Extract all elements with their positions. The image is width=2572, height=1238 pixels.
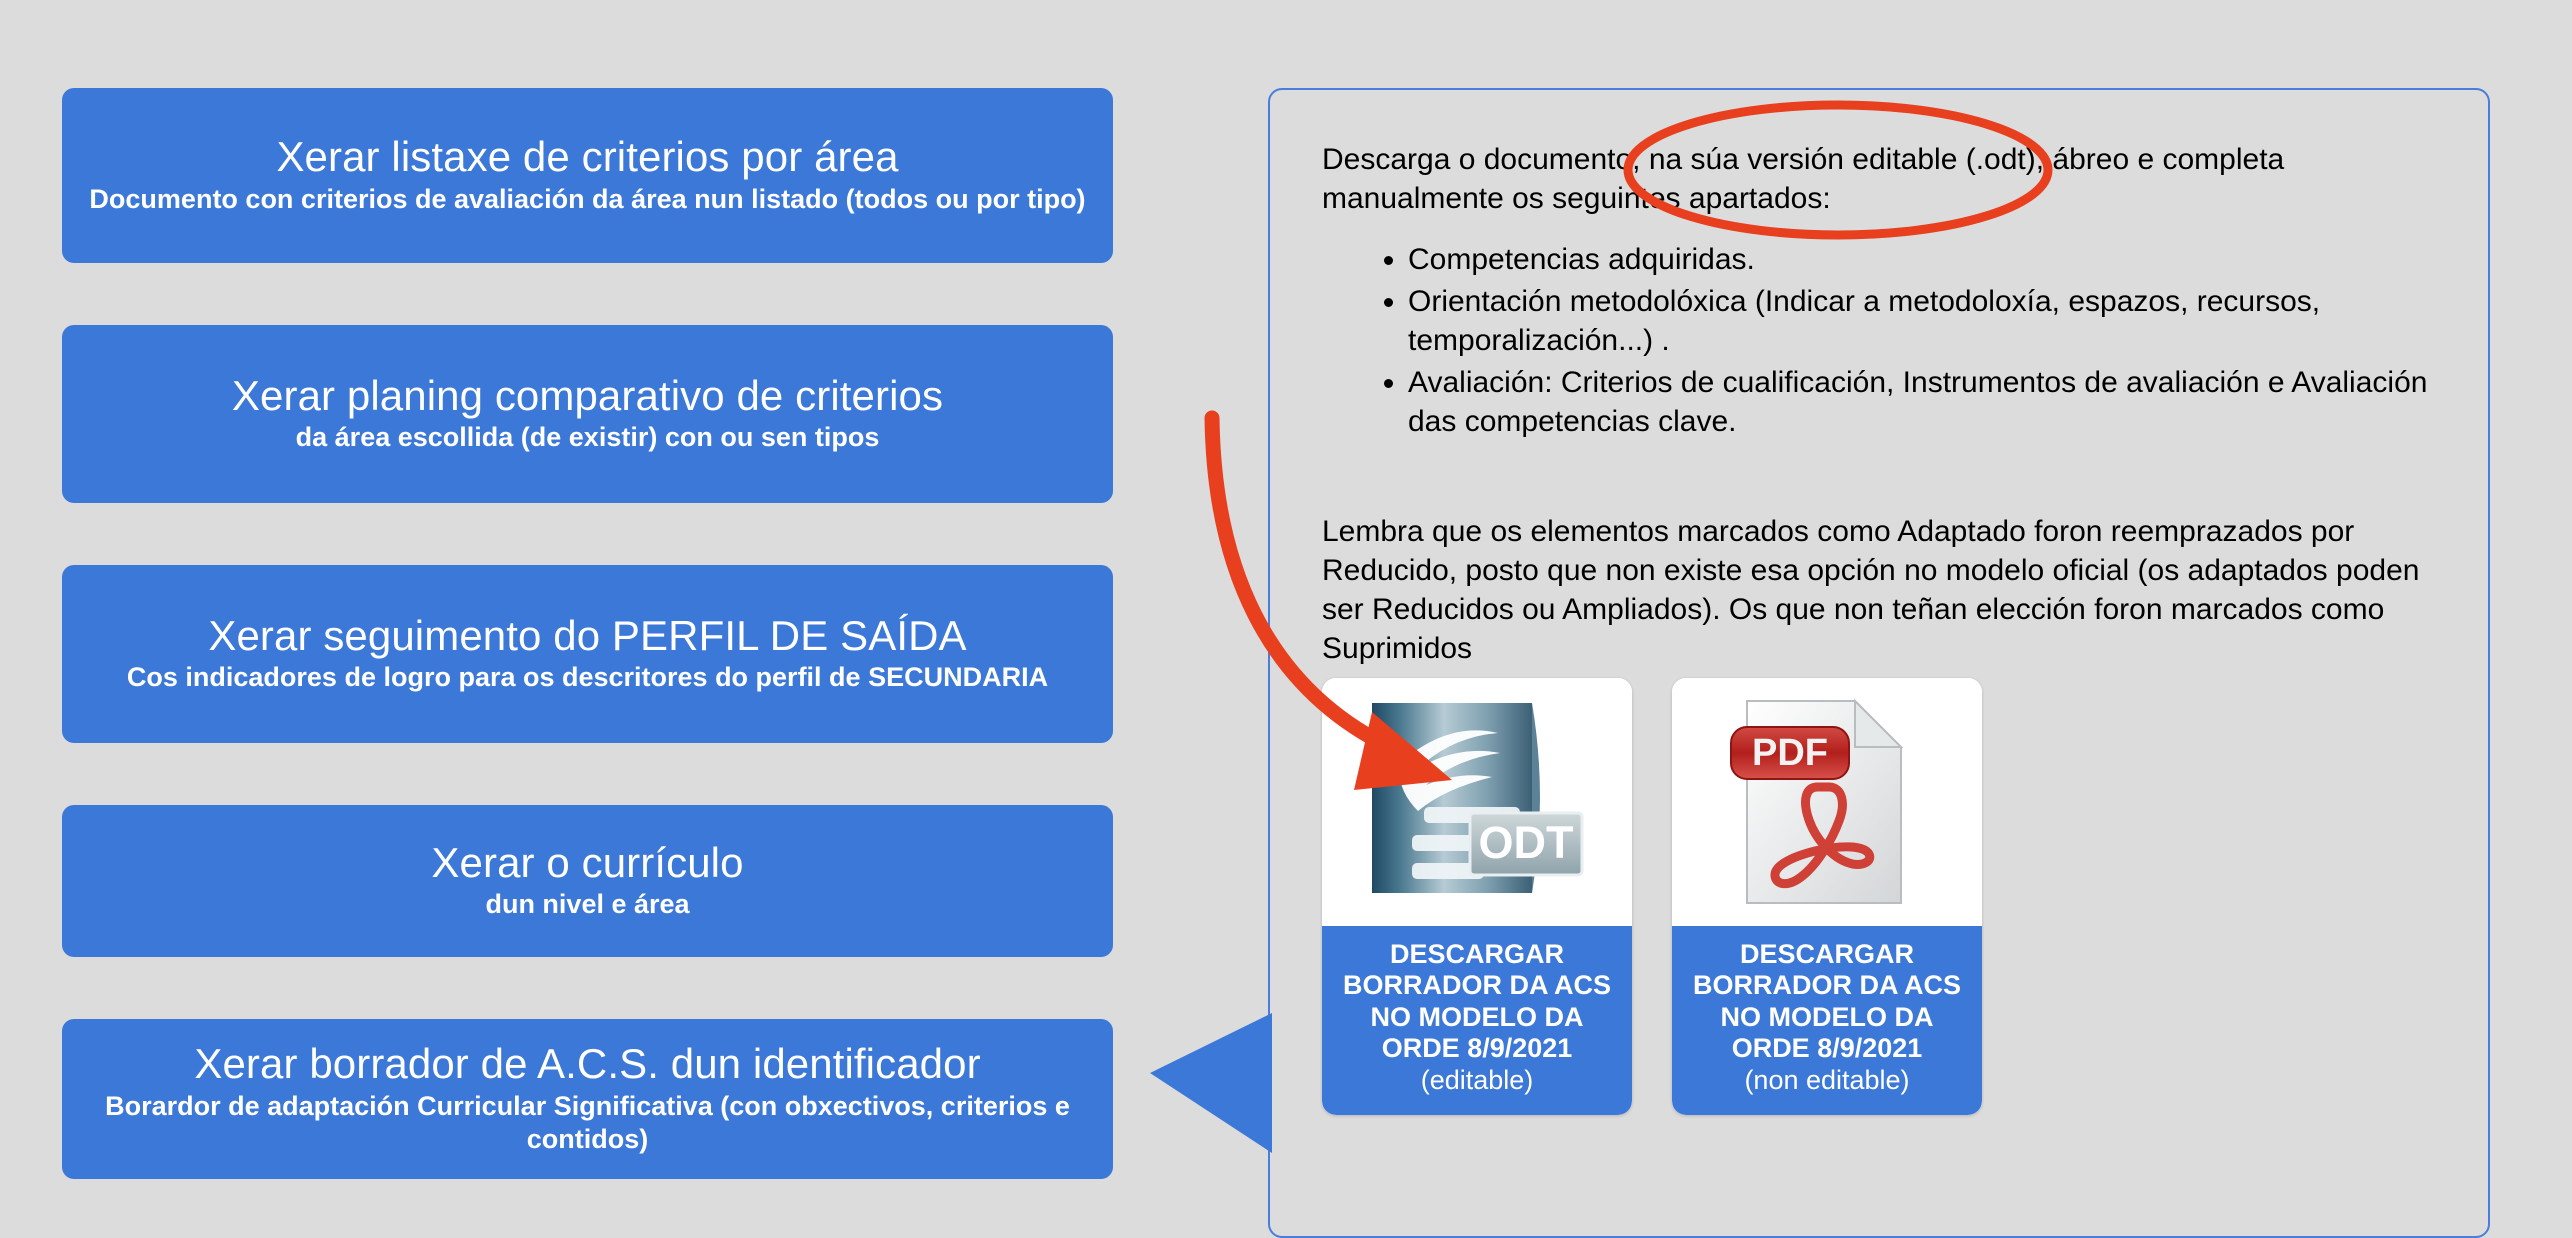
generate-acs-draft-button[interactable]: Xerar borrador de A.C.S. dun identificad…: [62, 1019, 1113, 1179]
generate-exit-profile-button[interactable]: Xerar seguimento do PERFIL DE SAÍDA Cos …: [62, 565, 1113, 743]
button-title: Xerar seguimento do PERFIL DE SAÍDA: [208, 614, 966, 659]
generate-criteria-list-button[interactable]: Xerar listaxe de criterios por área Docu…: [62, 88, 1113, 263]
instructions-panel: Descarga o documento, na súa versión edi…: [1268, 88, 2490, 1238]
download-card-group: ODT DESCARGAR BORRADOR DA ACS NO MODELO …: [1322, 678, 1982, 1115]
button-subtitle: Documento con criterios de avaliación da…: [89, 184, 1085, 216]
pdf-card-caption: DESCARGAR BORRADOR DA ACS NO MODELO DA O…: [1672, 926, 1982, 1115]
button-subtitle: da área escollida (de existir) con ou se…: [296, 422, 880, 454]
download-odt-card[interactable]: ODT DESCARGAR BORRADOR DA ACS NO MODELO …: [1322, 678, 1632, 1115]
pdf-caption-note: (non editable): [1680, 1065, 1974, 1096]
pdf-document-icon: PDF: [1725, 695, 1930, 910]
odt-badge-label: ODT: [1479, 817, 1574, 868]
button-subtitle: Cos indicadores de logro para os descrit…: [127, 662, 1048, 694]
panel-left-pointer-triangle: [1150, 1013, 1272, 1153]
button-title: Xerar o currículo: [431, 841, 743, 886]
instructions-panel-content: Descarga o documento, na súa versión edi…: [1322, 140, 2450, 668]
action-button-list: Xerar listaxe de criterios por área Docu…: [62, 88, 1113, 1179]
button-subtitle: dun nivel e área: [485, 889, 689, 921]
download-pdf-card[interactable]: PDF DESCARGAR BORRADOR DA ACS NO MODELO …: [1672, 678, 1982, 1115]
button-title: Xerar planing comparativo de criterios: [232, 374, 943, 419]
generate-criteria-planning-button[interactable]: Xerar planing comparativo de criterios d…: [62, 325, 1113, 503]
pdf-badge-label: PDF: [1752, 732, 1828, 774]
list-item: Competencias adquiridas.: [1408, 240, 2450, 280]
list-item: Avaliación: Criterios de cualificación, …: [1408, 363, 2450, 442]
required-sections-list: Competencias adquiridas. Orientación met…: [1322, 240, 2450, 442]
list-item: Orientación metodolóxica (Indicar a meto…: [1408, 282, 2450, 361]
generate-curriculum-button[interactable]: Xerar o currículo dun nivel e área: [62, 805, 1113, 957]
intro-paragraph: Descarga o documento, na súa versión edi…: [1322, 140, 2450, 218]
odt-document-icon: ODT: [1362, 695, 1592, 910]
odt-caption-text: DESCARGAR BORRADOR DA ACS NO MODELO DA O…: [1343, 939, 1611, 1063]
odt-card-caption: DESCARGAR BORRADOR DA ACS NO MODELO DA O…: [1322, 926, 1632, 1115]
odt-thumbnail: ODT: [1322, 678, 1632, 926]
adaptation-note-paragraph: Lembra que os elementos marcados como Ad…: [1322, 512, 2450, 668]
button-title: Xerar borrador de A.C.S. dun identificad…: [194, 1042, 980, 1087]
button-title: Xerar listaxe de criterios por área: [276, 135, 898, 180]
odt-caption-note: (editable): [1330, 1065, 1624, 1096]
pdf-thumbnail: PDF: [1672, 678, 1982, 926]
pdf-caption-text: DESCARGAR BORRADOR DA ACS NO MODELO DA O…: [1693, 939, 1961, 1063]
button-subtitle: Borardor de adaptación Curricular Signif…: [80, 1090, 1095, 1156]
